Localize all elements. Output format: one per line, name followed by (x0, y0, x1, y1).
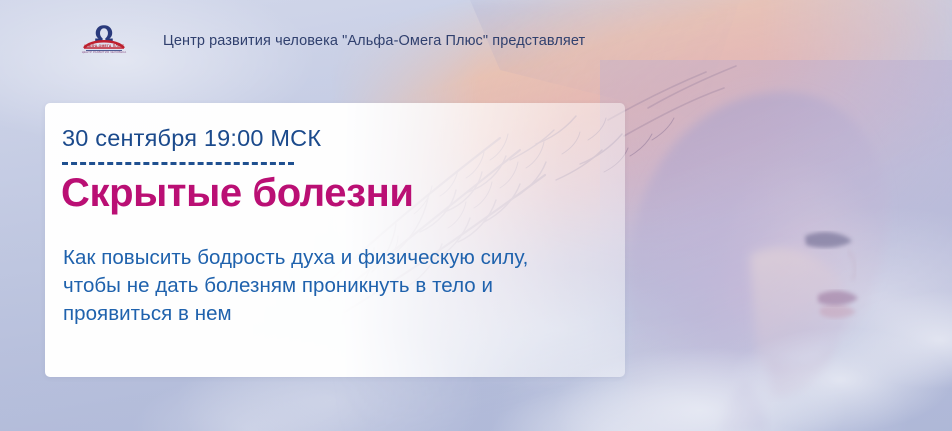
poster-header: Ω АЛЬФА-ОМЕГА ПЛЮС ЦЕНТР РАЗВИТИЯ ЧЕЛОВЕ… (0, 0, 952, 78)
webinar-announcement-poster: Ω АЛЬФА-ОМЕГА ПЛЮС ЦЕНТР РАЗВИТИЯ ЧЕЛОВЕ… (0, 0, 952, 431)
event-info-card: 30 сентября 19:00 МСК Скрытые болезни Ка… (45, 103, 625, 377)
alpha-omega-plus-logo[interactable]: Ω АЛЬФА-ОМЕГА ПЛЮС ЦЕНТР РАЗВИТИЯ ЧЕЛОВЕ… (79, 17, 129, 63)
logo-wordmark-secondary: ЦЕНТР РАЗВИТИЯ ЧЕЛОВЕКА (79, 50, 129, 54)
organization-tagline: Центр развития человека "Альфа-Омега Плю… (163, 33, 585, 49)
dashed-divider (62, 162, 294, 165)
logo-wordmark-primary: АЛЬФА-ОМЕГА ПЛЮС (79, 44, 129, 48)
event-datetime: 30 сентября 19:00 МСК (62, 125, 321, 152)
event-title: Скрытые болезни (61, 171, 414, 216)
event-subtitle: Как повысить бодрость духа и физическую … (63, 244, 583, 328)
